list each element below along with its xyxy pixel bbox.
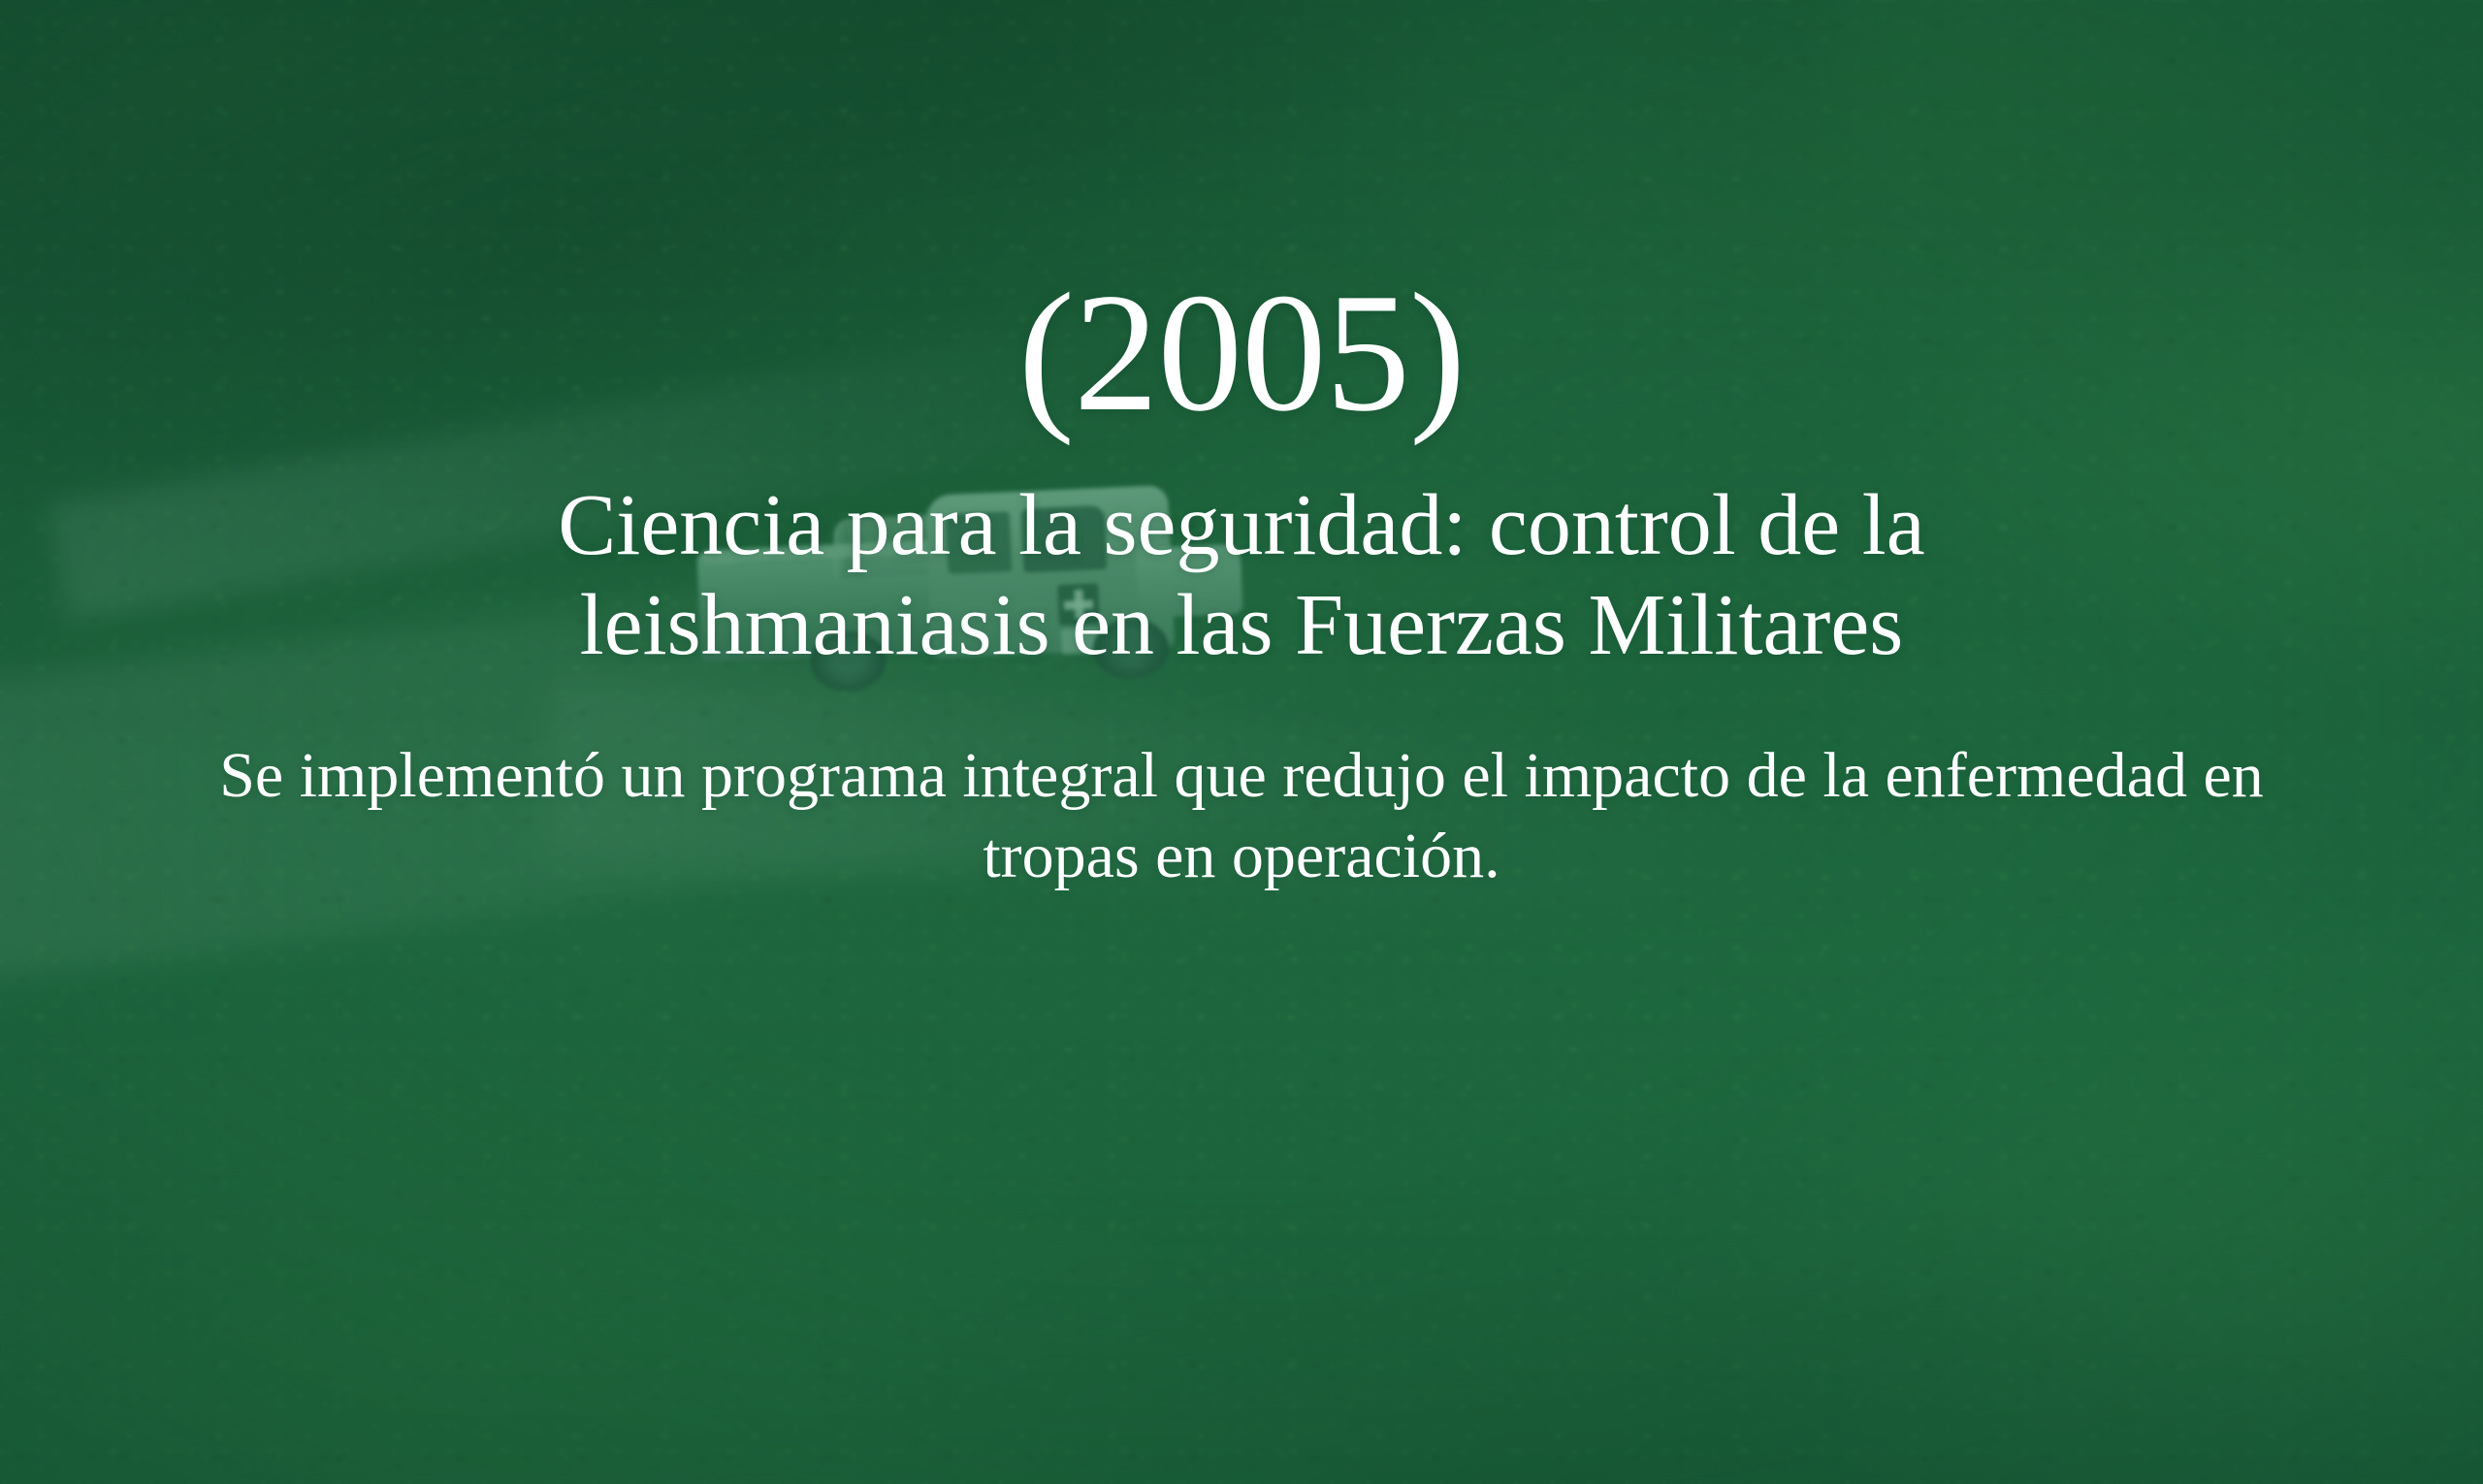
slide-root: (2005) Ciencia para la seguridad: contro… — [0, 0, 2483, 1484]
slide-headline: Ciencia para la seguridad: control de la… — [320, 476, 2163, 675]
year-label: (2005) — [1018, 268, 1466, 437]
slide-content: (2005) Ciencia para la seguridad: contro… — [0, 0, 2483, 1484]
slide-body-text: Se implementó un programa integral que r… — [170, 735, 2313, 896]
